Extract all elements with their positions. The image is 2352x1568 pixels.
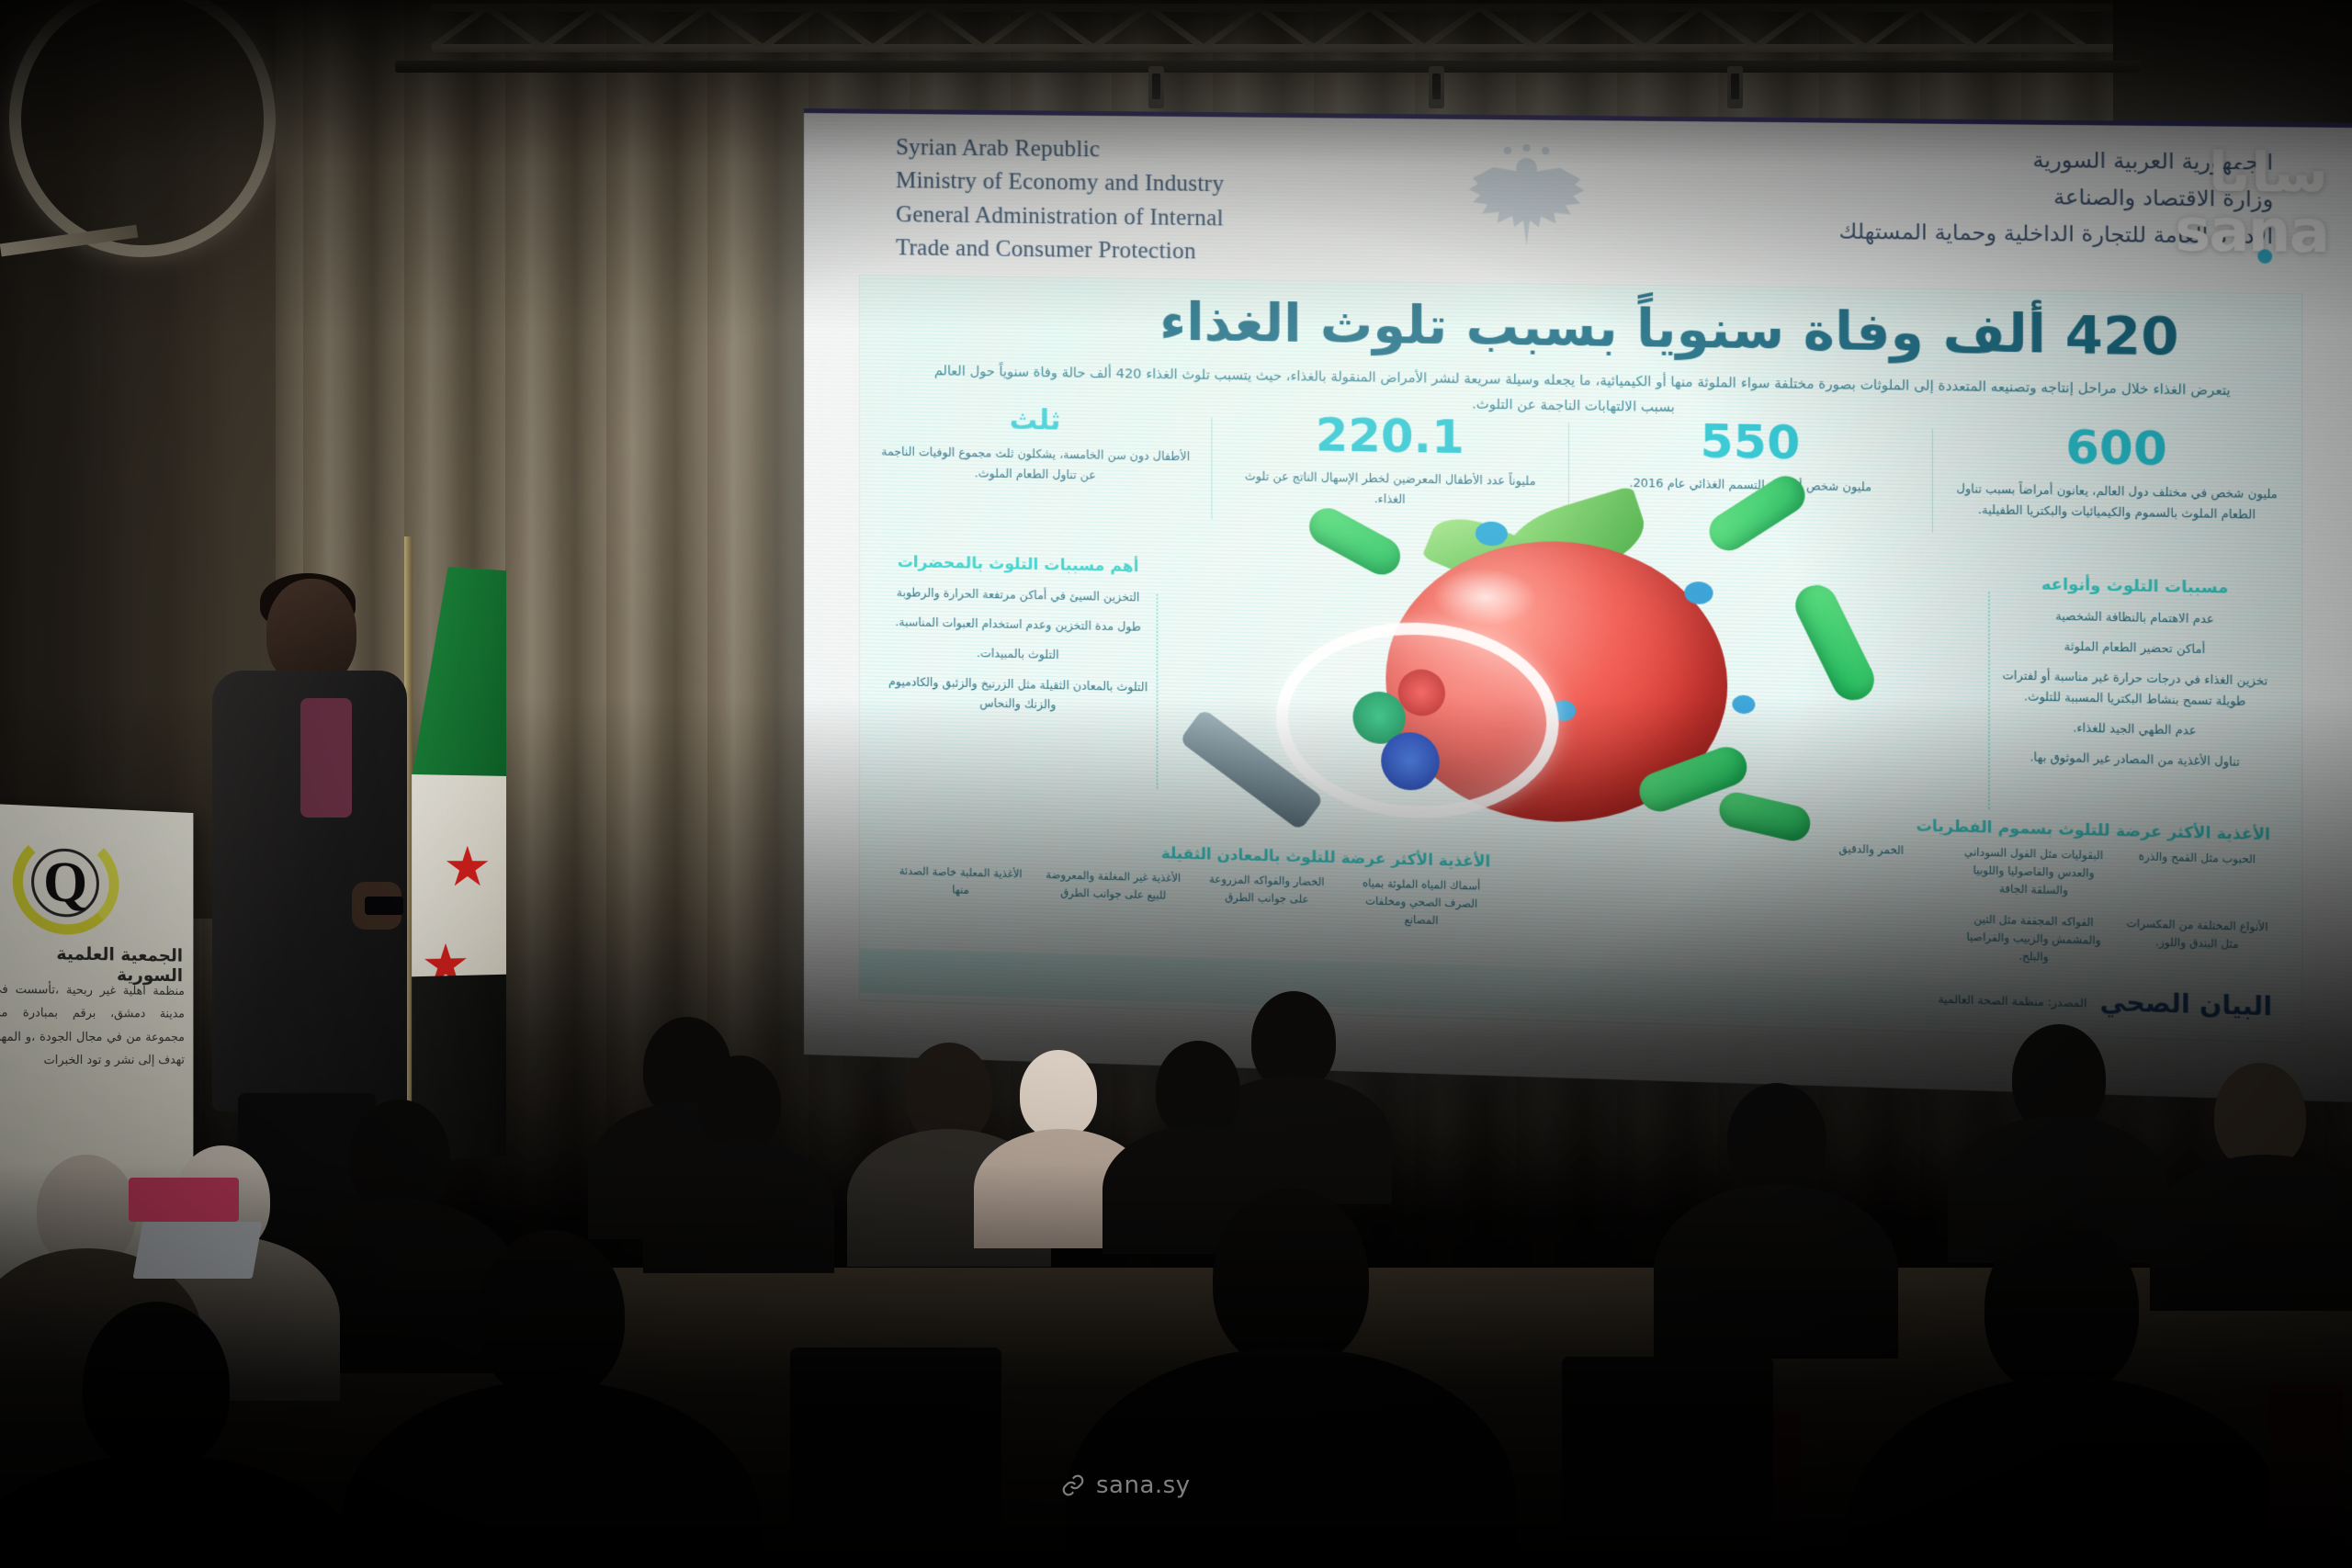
watermark-text: sana.sy bbox=[1096, 1472, 1191, 1499]
flag-green-band bbox=[412, 565, 506, 780]
audience-head-hijab bbox=[1020, 1050, 1097, 1138]
audience-silhouettes bbox=[0, 870, 2352, 1568]
laptop-device bbox=[133, 1222, 263, 1279]
conference-hall-scene: Syrian Arab Republic Ministry of Economy… bbox=[0, 0, 2352, 1568]
pink-object bbox=[129, 1178, 239, 1222]
audience-head bbox=[698, 1055, 781, 1151]
presenter-shirt bbox=[300, 698, 352, 818]
audience-head bbox=[1156, 1041, 1240, 1138]
audience-shadow-gradient bbox=[0, 1164, 2352, 1568]
audience-head bbox=[2214, 1063, 2306, 1169]
sana-sy-watermark: sana.sy bbox=[1061, 1472, 1191, 1499]
link-icon bbox=[1061, 1473, 1085, 1497]
